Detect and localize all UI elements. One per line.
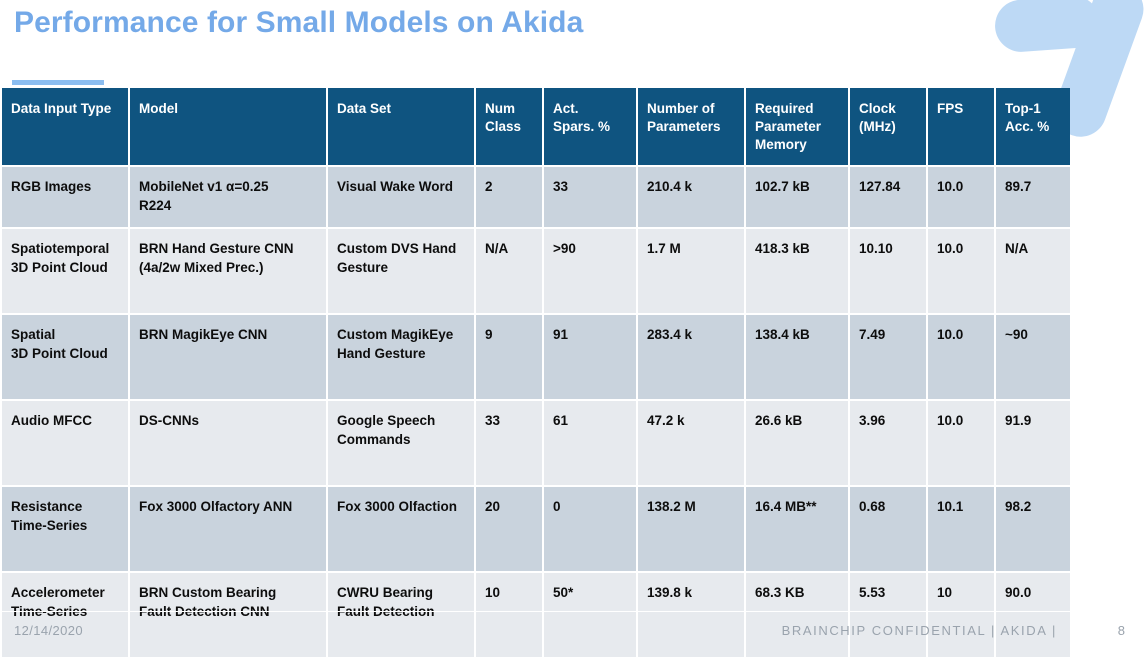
- cell-num-class: 2: [476, 167, 542, 227]
- table-row: Spatial 3D Point Cloud BRN MagikEye CNN …: [2, 315, 1070, 399]
- cell-required-memory: 102.7 kB: [746, 167, 848, 227]
- cell-line-2: Hand Gesture: [337, 345, 465, 364]
- cell-line-1: Audio MFCC: [11, 412, 119, 431]
- cell-line-1: Custom MagikEye: [337, 326, 465, 345]
- column-header-num-class: Num Class: [476, 88, 542, 165]
- column-header-data-input-type: Data Input Type: [2, 88, 128, 165]
- cell-fps: 10.0: [928, 167, 994, 227]
- cell-line-2: Time-Series: [11, 603, 119, 622]
- cell-clock-mhz: 10.10: [850, 229, 926, 313]
- table-row: Audio MFCC DS-CNNs Google Speech Command…: [2, 401, 1070, 485]
- cell-top1-acc: N/A: [996, 229, 1070, 313]
- header-line-2: (MHz): [859, 118, 917, 136]
- cell-num-parameters: 139.8 k: [638, 573, 744, 657]
- cell-num-class: 33: [476, 401, 542, 485]
- cell-line-2: (4a/2w Mixed Prec.): [139, 259, 317, 278]
- cell-line-2: 3D Point Cloud: [11, 259, 119, 278]
- header-line-1: Num: [485, 100, 533, 118]
- cell-data-input-type: Spatiotemporal 3D Point Cloud: [2, 229, 128, 313]
- header-line-2: Parameters: [647, 118, 735, 136]
- cell-num-parameters: 283.4 k: [638, 315, 744, 399]
- table-row: RGB Images MobileNet v1 α=0.25 R224 Visu…: [2, 167, 1070, 227]
- column-header-fps: FPS: [928, 88, 994, 165]
- cell-data-set: Visual Wake Word: [328, 167, 474, 227]
- cell-num-class: 20: [476, 487, 542, 571]
- cell-act-sparsity: >90: [544, 229, 636, 313]
- cell-num-parameters: 210.4 k: [638, 167, 744, 227]
- cell-top1-acc: 90.0: [996, 573, 1070, 657]
- cell-line-1: Google Speech: [337, 412, 465, 431]
- cell-top1-acc: 89.7: [996, 167, 1070, 227]
- cell-clock-mhz: 0.68: [850, 487, 926, 571]
- header-line-3: Memory: [755, 136, 839, 154]
- cell-fps: 10.0: [928, 315, 994, 399]
- cell-data-set: Custom MagikEye Hand Gesture: [328, 315, 474, 399]
- cell-num-class: 9: [476, 315, 542, 399]
- cell-model: MobileNet v1 α=0.25 R224: [130, 167, 326, 227]
- cell-top1-acc: 91.9: [996, 401, 1070, 485]
- table-row: Resistance Time-Series Fox 3000 Olfactor…: [2, 487, 1070, 571]
- cell-clock-mhz: 127.84: [850, 167, 926, 227]
- header-line-1: Data Set: [337, 100, 465, 118]
- cell-required-memory: 418.3 kB: [746, 229, 848, 313]
- cell-model: BRN Custom Bearing Fault Detection CNN: [130, 573, 326, 657]
- cell-data-set: Fox 3000 Olfaction: [328, 487, 474, 571]
- cell-required-memory: 16.4 MB**: [746, 487, 848, 571]
- cell-fps: 10.0: [928, 229, 994, 313]
- title-accent-bar: [12, 80, 104, 85]
- cell-model: DS-CNNs: [130, 401, 326, 485]
- header-line-2: Spars. %: [553, 118, 627, 136]
- column-header-required-parameter-memory: Required Parameter Memory: [746, 88, 848, 165]
- header-line-1: FPS: [937, 100, 985, 118]
- cell-line-1: DS-CNNs: [139, 412, 317, 431]
- cell-act-sparsity: 91: [544, 315, 636, 399]
- table-header-row: Data Input Type Model Data Set Num Class…: [2, 88, 1070, 165]
- cell-data-set: Custom DVS Hand Gesture: [328, 229, 474, 313]
- cell-top1-acc: ~90: [996, 315, 1070, 399]
- header-line-1: Clock: [859, 100, 917, 118]
- column-header-number-of-parameters: Number of Parameters: [638, 88, 744, 165]
- cell-required-memory: 138.4 kB: [746, 315, 848, 399]
- cell-line-1: Spatiotemporal: [11, 240, 119, 259]
- cell-data-set: Google Speech Commands: [328, 401, 474, 485]
- performance-table-container: Data Input Type Model Data Set Num Class…: [0, 86, 1056, 659]
- header-line-2: Class: [485, 118, 533, 136]
- cell-line-2: Fault Detection: [337, 603, 465, 622]
- cell-line-1: BRN MagikEye CNN: [139, 326, 317, 345]
- cell-top1-acc: 98.2: [996, 487, 1070, 571]
- cell-line-2: Fault Detection CNN: [139, 603, 317, 622]
- cell-act-sparsity: 0: [544, 487, 636, 571]
- cell-line-2: R224: [139, 197, 317, 216]
- page-title: Performance for Small Models on Akida: [14, 6, 583, 40]
- header-line-1: Number of: [647, 100, 735, 118]
- header-line-2: Acc. %: [1005, 118, 1061, 136]
- cell-model: Fox 3000 Olfactory ANN: [130, 487, 326, 571]
- cell-data-input-type: Audio MFCC: [2, 401, 128, 485]
- column-header-data-set: Data Set: [328, 88, 474, 165]
- footer-date: 12/14/2020: [14, 623, 83, 638]
- cell-act-sparsity: 61: [544, 401, 636, 485]
- cell-num-parameters: 138.2 M: [638, 487, 744, 571]
- cell-fps: 10.0: [928, 401, 994, 485]
- footer-divider: [0, 611, 1147, 612]
- cell-line-2: Gesture: [337, 259, 465, 278]
- cell-num-parameters: 47.2 k: [638, 401, 744, 485]
- cell-clock-mhz: 3.96: [850, 401, 926, 485]
- cell-data-input-type: RGB Images: [2, 167, 128, 227]
- cell-data-input-type: Resistance Time-Series: [2, 487, 128, 571]
- header-line-1: Required: [755, 100, 839, 118]
- cell-clock-mhz: 5.53: [850, 573, 926, 657]
- cell-line-1: Fox 3000 Olfaction: [337, 498, 465, 517]
- footer-page-number: 8: [1118, 623, 1125, 638]
- header-line-2: Parameter: [755, 118, 839, 136]
- cell-line-1: MobileNet v1 α=0.25: [139, 178, 317, 197]
- footer-confidential-notice: BRAINCHIP CONFIDENTIAL | AKIDA |: [782, 623, 1057, 638]
- cell-line-1: BRN Custom Bearing: [139, 584, 317, 603]
- column-header-model: Model: [130, 88, 326, 165]
- header-line-1: Top-1: [1005, 100, 1061, 118]
- column-header-act-sparsity: Act. Spars. %: [544, 88, 636, 165]
- cell-line-1: Visual Wake Word: [337, 178, 465, 197]
- cell-line-2: 3D Point Cloud: [11, 345, 119, 364]
- cell-line-2: Time-Series: [11, 517, 119, 536]
- header-line-1: Model: [139, 100, 317, 118]
- cell-required-memory: 68.3 KB: [746, 573, 848, 657]
- cell-line-1: Resistance: [11, 498, 119, 517]
- column-header-top1-acc: Top-1 Acc. %: [996, 88, 1070, 165]
- header-line-1: Act.: [553, 100, 627, 118]
- cell-model: BRN MagikEye CNN: [130, 315, 326, 399]
- cell-line-2: Commands: [337, 431, 465, 450]
- cell-fps: 10.1: [928, 487, 994, 571]
- cell-data-input-type: Spatial 3D Point Cloud: [2, 315, 128, 399]
- table-row: Accelerometer Time-Series BRN Custom Bea…: [2, 573, 1070, 657]
- cell-num-class: 10: [476, 573, 542, 657]
- cell-data-set: CWRU Bearing Fault Detection: [328, 573, 474, 657]
- column-header-clock: Clock (MHz): [850, 88, 926, 165]
- table-row: Spatiotemporal 3D Point Cloud BRN Hand G…: [2, 229, 1070, 313]
- cell-act-sparsity: 33: [544, 167, 636, 227]
- cell-required-memory: 26.6 kB: [746, 401, 848, 485]
- cell-line-1: RGB Images: [11, 178, 119, 197]
- cell-model: BRN Hand Gesture CNN (4a/2w Mixed Prec.): [130, 229, 326, 313]
- cell-line-1: Accelerometer: [11, 584, 119, 603]
- cell-line-1: Spatial: [11, 326, 119, 345]
- cell-line-1: BRN Hand Gesture CNN: [139, 240, 317, 259]
- cell-num-class: N/A: [476, 229, 542, 313]
- performance-table: Data Input Type Model Data Set Num Class…: [0, 86, 1072, 659]
- cell-num-parameters: 1.7 M: [638, 229, 744, 313]
- cell-line-1: Fox 3000 Olfactory ANN: [139, 498, 317, 517]
- cell-clock-mhz: 7.49: [850, 315, 926, 399]
- cell-line-1: Custom DVS Hand: [337, 240, 465, 259]
- cell-data-input-type: Accelerometer Time-Series: [2, 573, 128, 657]
- cell-fps: 10: [928, 573, 994, 657]
- cell-line-1: CWRU Bearing: [337, 584, 465, 603]
- cell-act-sparsity: 50*: [544, 573, 636, 657]
- header-line-1: Data Input Type: [11, 100, 119, 118]
